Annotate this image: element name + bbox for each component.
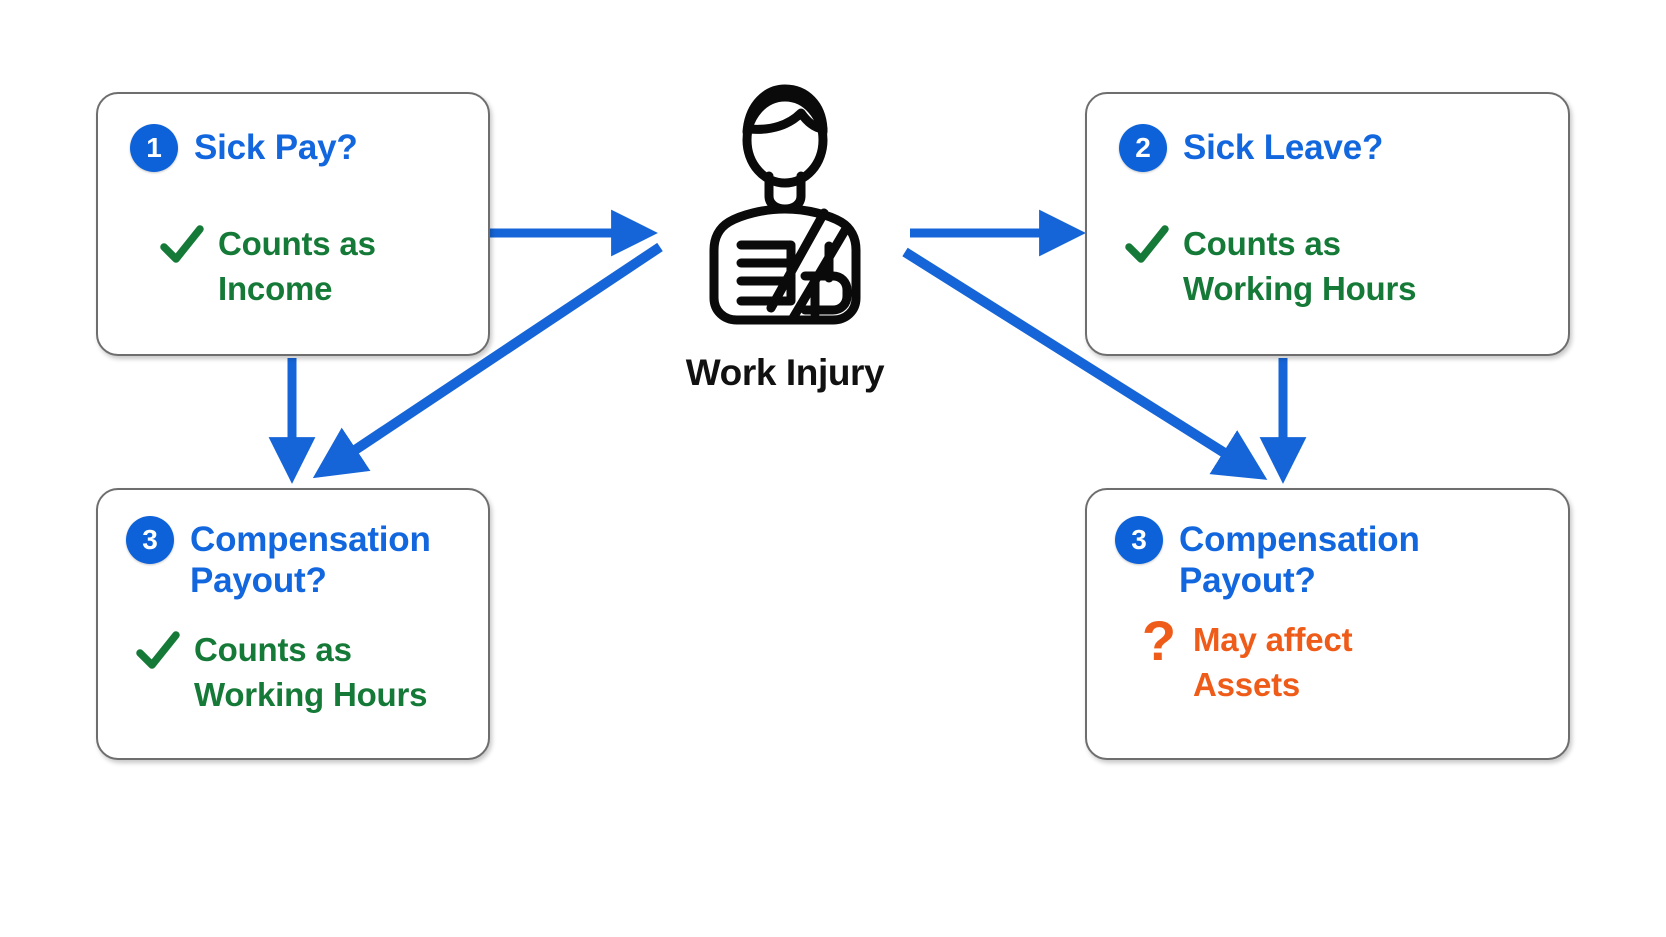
center-node-label: Work Injury [686,352,884,394]
card-title: Sick Pay? [194,124,358,168]
card-body-text: Counts as Working Hours [1183,222,1416,311]
card-body: Counts as Income [160,222,376,311]
step-number-badge: 2 [1119,124,1167,172]
card-compensation-payout-left[interactable]: 3 Compensation Payout? Counts as Working… [96,488,490,760]
orange-question-mark-icon: ? [1139,618,1179,664]
step-number-badge: 3 [1115,516,1163,564]
card-body: Counts as Working Hours [1125,222,1416,311]
card-body-text: May affect Assets [1193,618,1352,707]
card-header: 3 Compensation Payout? [126,516,431,602]
card-body: Counts as Working Hours [136,628,427,717]
card-body-text: Counts as Working Hours [194,628,427,717]
green-check-icon [160,222,204,268]
card-title: Sick Leave? [1183,124,1383,168]
injured-person-arm-sling-icon [685,80,885,348]
card-title: Compensation Payout? [190,516,431,602]
center-node-work-injury: Work Injury [660,80,910,410]
card-sick-pay[interactable]: 1 Sick Pay? Counts as Income [96,92,490,356]
card-body: ? May affect Assets [1139,618,1352,707]
card-title: Compensation Payout? [1179,516,1420,602]
diagram-canvas: Work Injury 1 Sick Pay? Counts as Income… [0,0,1666,937]
step-number-badge: 1 [130,124,178,172]
card-header: 3 Compensation Payout? [1115,516,1420,602]
card-body-text: Counts as Income [218,222,376,311]
step-number-badge: 3 [126,516,174,564]
card-header: 2 Sick Leave? [1119,124,1383,172]
green-check-icon [1125,222,1169,268]
card-compensation-payout-right[interactable]: 3 Compensation Payout? ? May affect Asse… [1085,488,1570,760]
card-sick-leave[interactable]: 2 Sick Leave? Counts as Working Hours [1085,92,1570,356]
green-check-icon [136,628,180,674]
card-header: 1 Sick Pay? [130,124,358,172]
